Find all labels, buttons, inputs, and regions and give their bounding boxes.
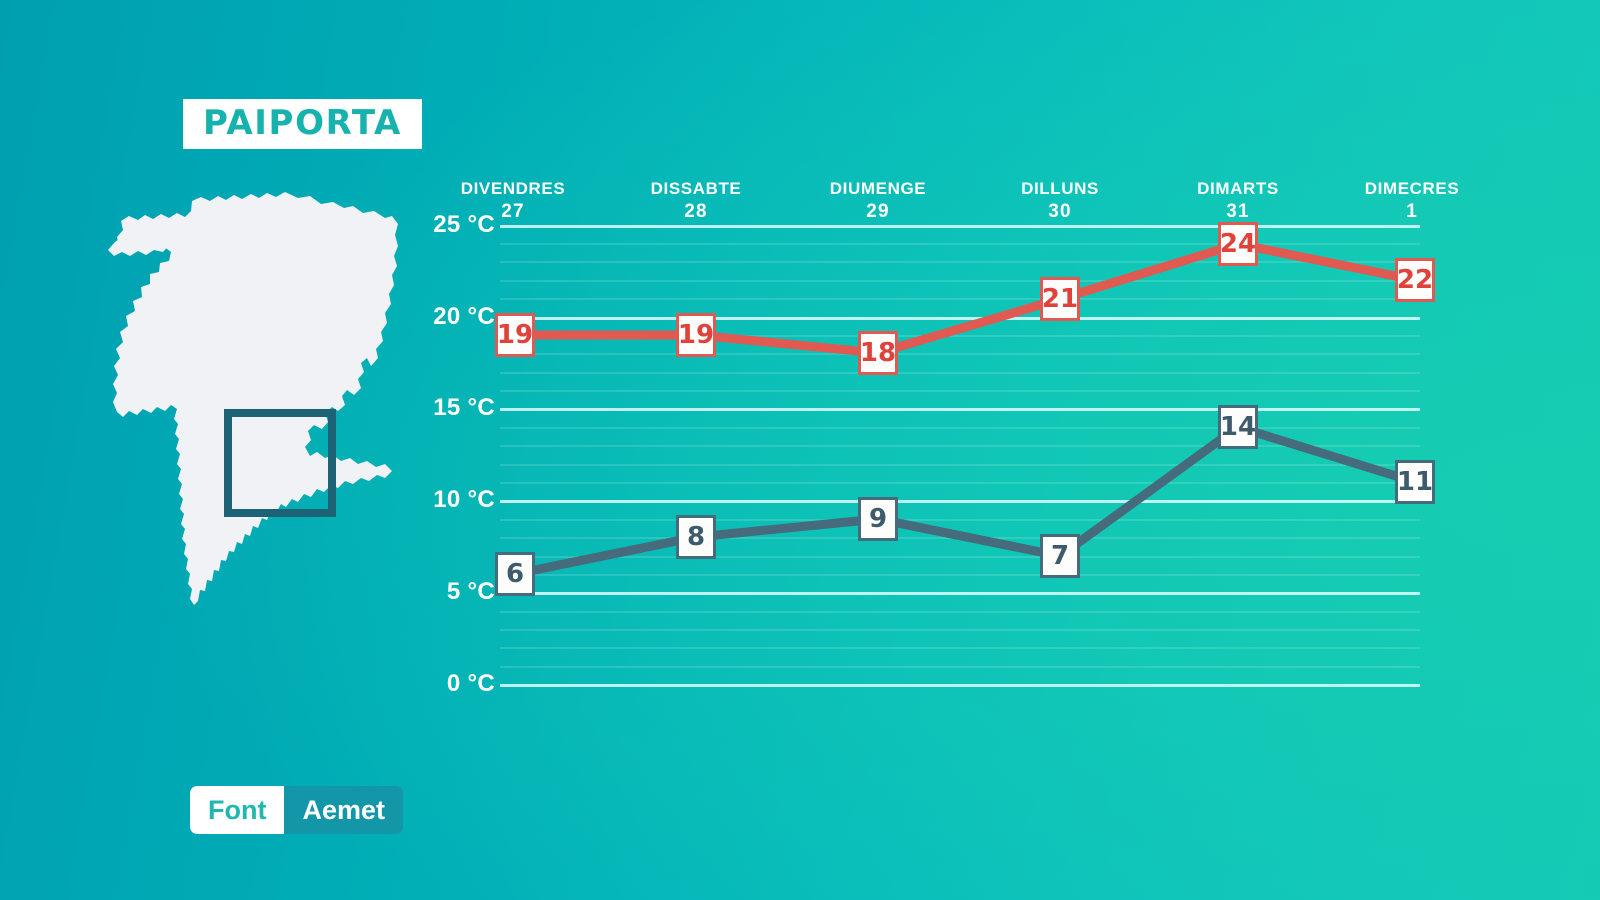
- day-name: DISSABTE: [651, 179, 742, 199]
- max-value-label-3: 21: [1040, 277, 1080, 321]
- day-header-4: DIMARTS 31: [1197, 179, 1279, 223]
- day-name: DILLUNS: [1021, 179, 1099, 199]
- day-name: DIUMENGE: [830, 179, 926, 199]
- min-value-label-5: 11: [1395, 460, 1435, 504]
- map-highlight-rect: [228, 413, 332, 513]
- day-number: 29: [830, 201, 926, 223]
- min-value-label-2: 9: [858, 497, 898, 541]
- day-header-3: DILLUNS 30: [1021, 179, 1099, 223]
- page-title: PAIPORTA: [203, 106, 402, 140]
- day-name: DIMARTS: [1197, 179, 1279, 199]
- min-value-label-3: 7: [1040, 534, 1080, 578]
- region-map: [95, 180, 425, 750]
- day-number: 28: [651, 201, 742, 223]
- source-label: Font: [190, 786, 284, 834]
- day-headers: DIVENDRES 27 DISSABTE 28 DIUMENGE 29 DIL…: [425, 165, 1435, 215]
- day-name: DIVENDRES: [461, 179, 566, 199]
- location-title-badge: PAIPORTA: [183, 99, 422, 149]
- min-value-label-4: 14: [1218, 405, 1258, 449]
- max-value-label-0: 19: [495, 313, 535, 357]
- max-value-label-1: 19: [676, 313, 716, 357]
- day-name: DIMECRES: [1365, 179, 1460, 199]
- temperature-chart: DIVENDRES 27 DISSABTE 28 DIUMENGE 29 DIL…: [425, 165, 1495, 725]
- source-badge: Font Aemet: [190, 786, 403, 834]
- day-number: 30: [1021, 201, 1099, 223]
- plot-area: 25 °C 20 °C 15 °C 10 °C 5 °C 0 °C 19 19 …: [425, 225, 1495, 705]
- max-value-label-2: 18: [858, 331, 898, 375]
- min-value-label-1: 8: [676, 515, 716, 559]
- day-header-1: DISSABTE 28: [651, 179, 742, 223]
- min-value-label-0: 6: [495, 552, 535, 596]
- max-value-label-4: 24: [1218, 222, 1258, 266]
- day-number: 1: [1365, 201, 1460, 223]
- max-value-label-5: 22: [1395, 258, 1435, 302]
- day-number: 31: [1197, 201, 1279, 223]
- day-header-5: DIMECRES 1: [1365, 179, 1460, 223]
- source-name: Aemet: [284, 786, 403, 834]
- day-header-2: DIUMENGE 29: [830, 179, 926, 223]
- max-temperature-line: [515, 244, 1415, 353]
- min-temperature-line: [515, 427, 1415, 574]
